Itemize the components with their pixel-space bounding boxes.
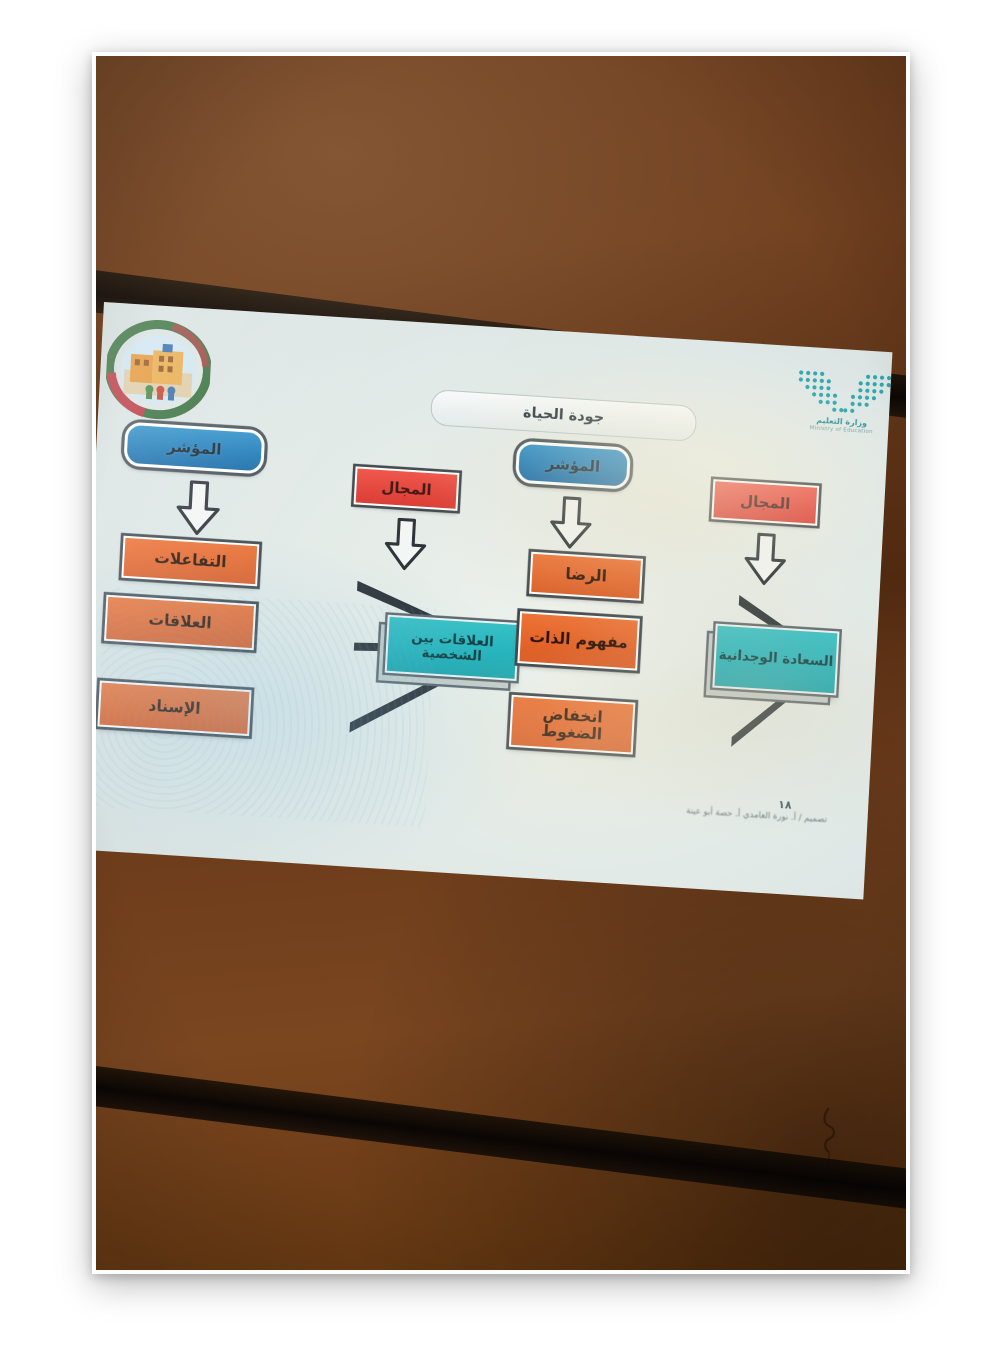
component-label: انخفاض الضغوط	[511, 703, 633, 745]
outcome-box-interpersonal-relations[interactable]: العلاقات بين الشخصية	[385, 615, 520, 681]
slide-content: وزارة التعليم Ministry of Education جودة…	[96, 302, 892, 900]
indicator-label-2: المؤشر	[545, 455, 600, 475]
component-label: الإسناد	[148, 698, 201, 719]
component-box-stress-reduction[interactable]: انخفاض الضغوط	[509, 695, 636, 755]
component-box-relationships[interactable]: العلاقات	[104, 595, 256, 650]
domain-box-2[interactable]: المجال	[711, 479, 819, 526]
indicator-capsule-1[interactable]: المؤشر	[123, 422, 265, 475]
slide-page-number: ١٨	[778, 798, 792, 812]
component-box-interactions[interactable]: التفاعلات	[121, 536, 259, 587]
outcome-box-emotional-happiness[interactable]: السعادة الوجدانية	[712, 624, 839, 696]
slide-title-text: جودة الحياة	[523, 405, 605, 426]
wall-hook-icon	[816, 1106, 842, 1168]
school-crest-logo-icon	[104, 314, 213, 424]
screenshot-stage: وزارة التعليم Ministry of Education جودة…	[0, 0, 1003, 1371]
component-label: الرضا	[565, 566, 607, 586]
photo: وزارة التعليم Ministry of Education جودة…	[96, 56, 906, 1270]
outcome-label-1: العلاقات بين الشخصية	[387, 629, 516, 667]
indicator-capsule-2[interactable]: المؤشر	[515, 441, 631, 490]
component-box-self-concept[interactable]: مفهوم الذات	[517, 611, 640, 671]
component-box-satisfaction[interactable]: الرضا	[529, 552, 643, 601]
domain-label-1: المجال	[381, 479, 432, 499]
component-label: العلاقات	[148, 612, 212, 633]
slide-credit: تصميم / أ. نورة الغامدي أ. حصة أبو عينة	[644, 803, 870, 827]
slide-title: جودة الحياة	[430, 389, 697, 442]
component-box-support[interactable]: الإسناد	[97, 680, 251, 736]
outcome-label-2: السعادة الوجدانية	[718, 648, 833, 670]
domain-box-1[interactable]: المجال	[354, 466, 460, 511]
component-label: التفاعلات	[154, 550, 227, 572]
projection-screen: وزارة التعليم Ministry of Education جودة…	[96, 302, 892, 900]
component-label: مفهوم الذات	[529, 629, 628, 653]
domain-label-2: المجال	[740, 493, 791, 513]
photo-frame: وزارة التعليم Ministry of Education جودة…	[92, 52, 910, 1274]
indicator-label-1: المؤشر	[167, 438, 222, 458]
screen-surface: وزارة التعليم Ministry of Education جودة…	[96, 302, 892, 900]
